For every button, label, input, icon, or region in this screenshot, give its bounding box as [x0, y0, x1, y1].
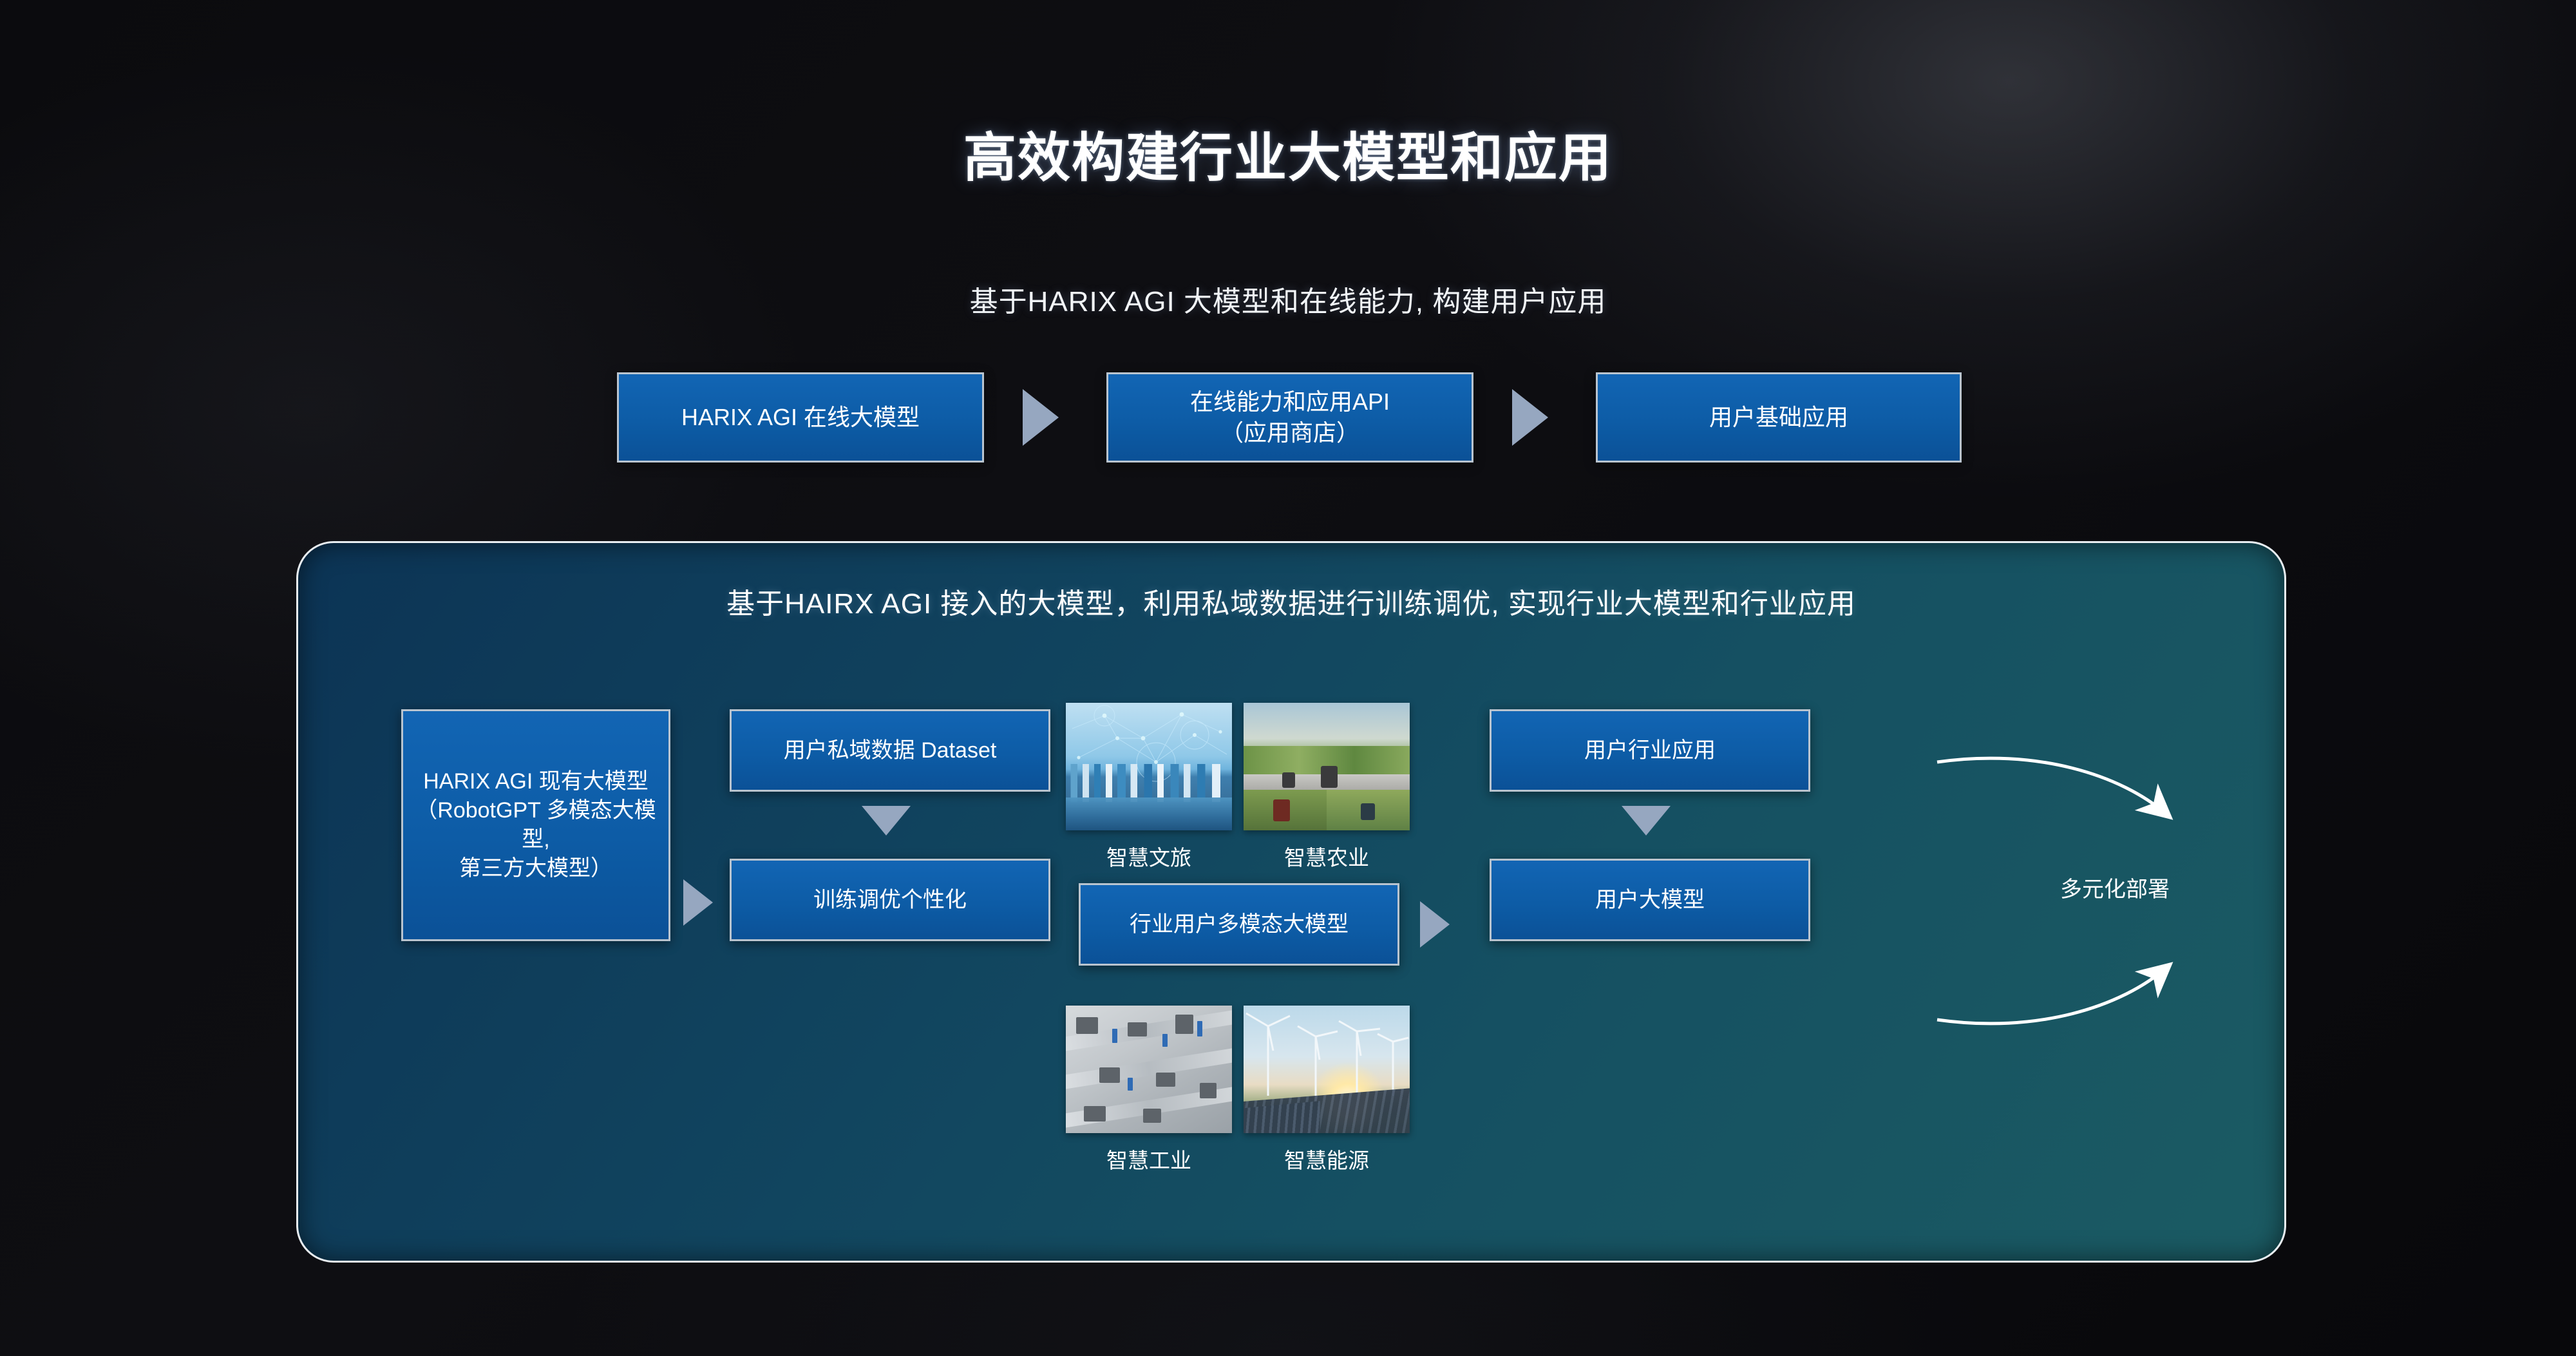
thumbnail-smart-agriculture[interactable]: 智慧农业: [1244, 703, 1410, 872]
top-flow-box-1[interactable]: HARIX AGI 在线大模型: [617, 372, 984, 463]
smart-city-image: [1066, 703, 1232, 830]
triangle-down-icon-1: [862, 806, 911, 836]
top-flow-box-2-sublabel: （应用商店）: [1211, 417, 1368, 448]
thumbnail-smart-industry-caption: 智慧工业: [1066, 1143, 1232, 1174]
triangle-right-icon-3: [683, 879, 713, 926]
top-flow-box-3-label: 用户基础应用: [1700, 402, 1857, 433]
source-model-line2: （RobotGPT 多模态大模型,: [403, 796, 668, 854]
top-flow-box-2[interactable]: 在线能力和应用API （应用商店）: [1106, 372, 1473, 463]
top-flow-box-1-label: HARIX AGI 在线大模型: [672, 402, 929, 433]
user-application-box-label: 用户行业应用: [1575, 736, 1725, 765]
dataset-box[interactable]: 用户私域数据 Dataset: [730, 709, 1050, 792]
training-box-label: 训练调优个性化: [804, 886, 976, 915]
training-box[interactable]: 训练调优个性化: [730, 859, 1050, 941]
thumbnail-smart-energy-caption: 智慧能源: [1244, 1143, 1410, 1174]
thumbnail-smart-city-caption: 智慧文旅: [1066, 841, 1232, 872]
triangle-right-icon-2: [1512, 389, 1548, 446]
deploy-label: 多元化部署: [2060, 872, 2170, 903]
smart-agriculture-image: [1244, 703, 1410, 830]
source-model-line1: HARIX AGI 现有大模型: [414, 767, 658, 796]
source-model-box[interactable]: HARIX AGI 现有大模型 （RobotGPT 多模态大模型, 第三方大模型…: [401, 709, 670, 941]
smart-industry-image: [1066, 1006, 1232, 1133]
page-subtitle: 基于HARIX AGI 大模型和在线能力, 构建用户应用: [0, 278, 2576, 320]
top-flow-box-3[interactable]: 用户基础应用: [1596, 372, 1962, 463]
main-panel: 基于HAIRX AGI 接入的大模型，利用私域数据进行训练调优, 实现行业大模型…: [296, 541, 2286, 1263]
top-flow-box-2-label: 在线能力和应用API: [1181, 387, 1399, 417]
slide-canvas: 高效构建行业大模型和应用 基于HARIX AGI 大模型和在线能力, 构建用户应…: [0, 0, 2576, 1356]
thumbnail-smart-city[interactable]: 智慧文旅: [1066, 703, 1232, 872]
triangle-right-icon-1: [1023, 389, 1059, 446]
triangle-down-icon-2: [1622, 806, 1671, 836]
user-application-box[interactable]: 用户行业应用: [1490, 709, 1810, 792]
page-title: 高效构建行业大模型和应用: [0, 115, 2576, 191]
panel-heading: 基于HAIRX AGI 接入的大模型，利用私域数据进行训练调优, 实现行业大模型…: [298, 580, 2284, 622]
industry-model-box-label: 行业用户多模态大模型: [1121, 910, 1358, 939]
thumbnail-smart-industry[interactable]: 智慧工业: [1066, 1006, 1232, 1174]
triangle-right-icon-4: [1420, 901, 1450, 948]
user-model-box[interactable]: 用户大模型: [1490, 859, 1810, 941]
smart-energy-image: [1244, 1006, 1410, 1133]
source-model-line3: 第三方大模型）: [450, 854, 621, 883]
dataset-box-label: 用户私域数据 Dataset: [775, 736, 1006, 765]
user-model-box-label: 用户大模型: [1586, 886, 1714, 915]
thumbnail-smart-agriculture-caption: 智慧农业: [1244, 841, 1410, 872]
thumbnail-smart-energy[interactable]: 智慧能源: [1244, 1006, 1410, 1174]
industry-model-box[interactable]: 行业用户多模态大模型: [1079, 883, 1399, 966]
